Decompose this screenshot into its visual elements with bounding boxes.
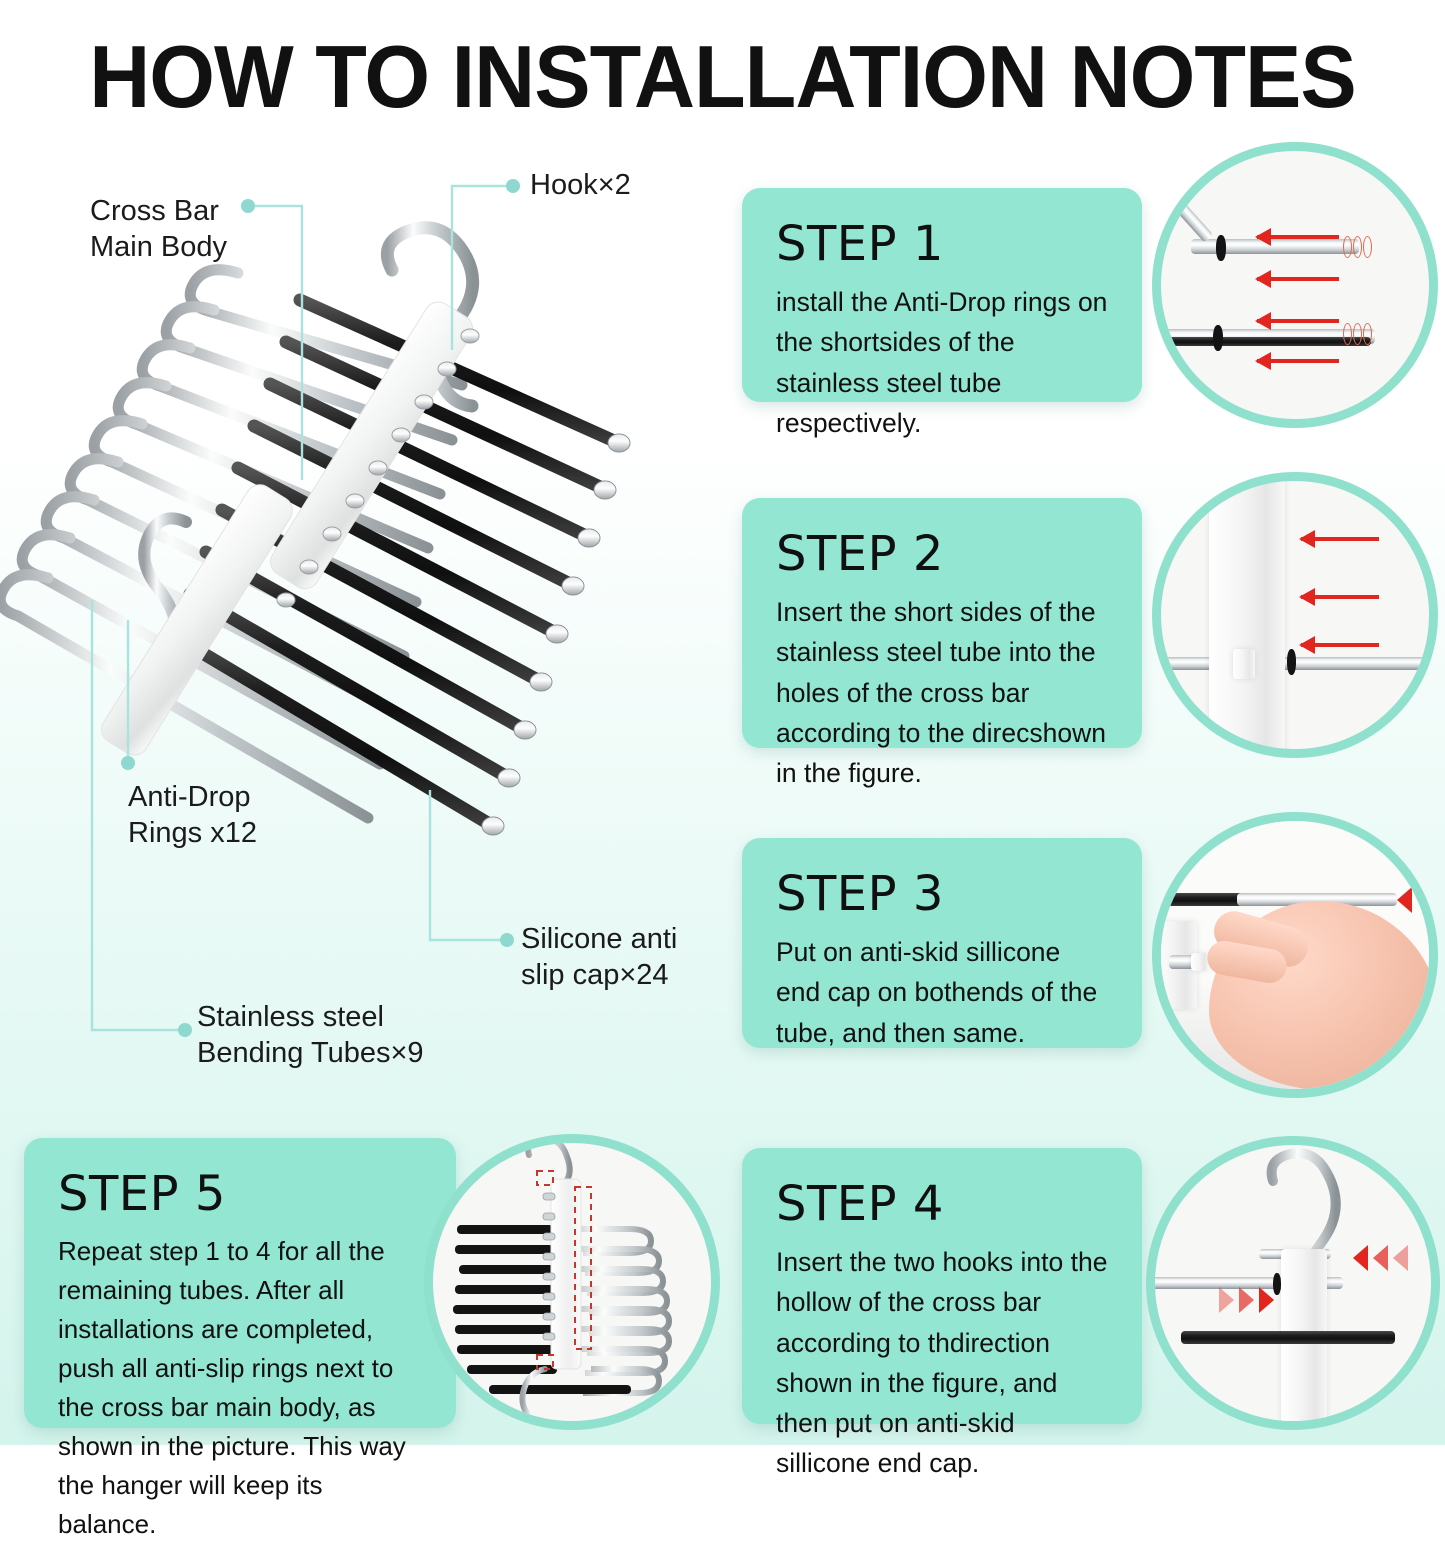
label-hook: Hook×2 bbox=[530, 168, 631, 204]
step-2-photo bbox=[1152, 472, 1438, 758]
label-cross-bar-main-body: Cross Bar Main Body bbox=[90, 194, 227, 266]
step-2-body: Insert the short sides of the stainless … bbox=[776, 592, 1108, 793]
step-4-body: Insert the two hooks into the hollow of … bbox=[776, 1242, 1108, 1484]
step-1-body: install the Anti-Drop rings on the short… bbox=[776, 282, 1108, 443]
anti-drop-ring bbox=[1213, 325, 1223, 351]
end-cap bbox=[1191, 953, 1209, 971]
step-card-5: STEP 5 Repeat step 1 to 4 for all the re… bbox=[24, 1138, 456, 1428]
step-3-title: STEP 3 bbox=[776, 866, 1108, 922]
step-5-body: Repeat step 1 to 4 for all the remaining… bbox=[58, 1232, 422, 1544]
step-card-1: STEP 1 install the Anti-Drop rings on th… bbox=[742, 188, 1142, 402]
label-anti-drop-rings: Anti-Drop Rings x12 bbox=[128, 780, 257, 852]
step-3-photo bbox=[1152, 812, 1438, 1098]
step-card-3: STEP 3 Put on anti-skid sillicone end ca… bbox=[742, 838, 1142, 1048]
step-card-2: STEP 2 Insert the short sides of the sta… bbox=[742, 498, 1142, 748]
step-3-body: Put on anti-skid sillicone end cap on bo… bbox=[776, 932, 1108, 1053]
assembled-hanger-illustration bbox=[433, 1143, 711, 1421]
step-1-photo bbox=[1152, 142, 1438, 428]
step-1-title: STEP 1 bbox=[776, 216, 1108, 272]
label-silicone-anti-slip-cap: Silicone anti slip cap×24 bbox=[521, 922, 677, 994]
step-card-4: STEP 4 Insert the two hooks into the hol… bbox=[742, 1148, 1142, 1424]
step-4-photo bbox=[1146, 1136, 1440, 1430]
step-2-title: STEP 2 bbox=[776, 526, 1108, 582]
anti-drop-ring bbox=[1216, 235, 1226, 261]
step-5-title: STEP 5 bbox=[58, 1166, 422, 1222]
page-title: HOW TO INSTALLATION NOTES bbox=[29, 26, 1416, 128]
cross-bar bbox=[1209, 475, 1285, 753]
step-4-title: STEP 4 bbox=[776, 1176, 1108, 1232]
label-stainless-bending-tubes: Stainless steel Bending Tubes×9 bbox=[197, 1000, 424, 1072]
step-5-photo bbox=[424, 1134, 720, 1430]
